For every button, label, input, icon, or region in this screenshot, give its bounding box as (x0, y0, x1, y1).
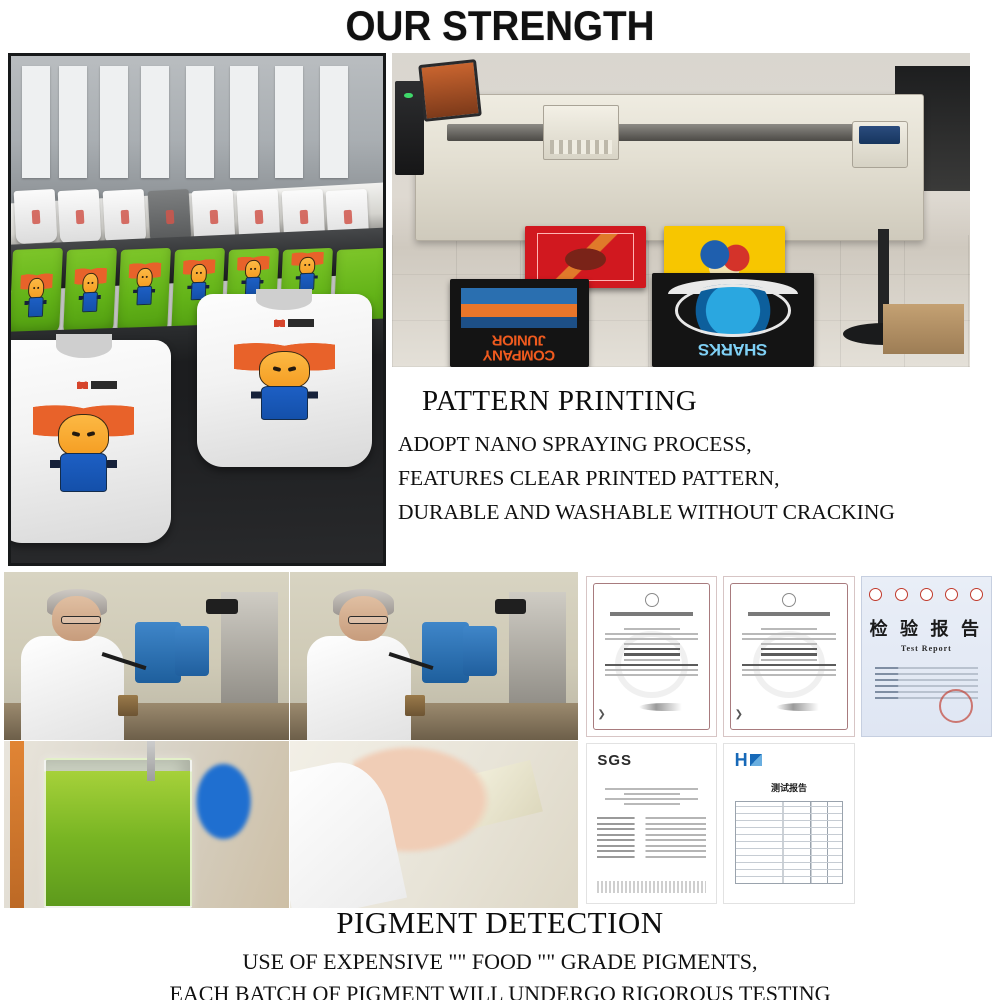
wall-paper (59, 66, 87, 178)
wall-paper (100, 66, 128, 178)
wall-paper (22, 66, 50, 178)
white-tshirt-foreground (197, 294, 372, 466)
red-official-stamp-icon (939, 689, 973, 723)
green-pigment-liquid (46, 771, 190, 906)
bull-mascot-print (78, 265, 102, 314)
brand-wordmark (91, 381, 117, 389)
certificate-corner-mark: ❯ (735, 709, 743, 720)
field-row (875, 679, 978, 681)
bull-eye-left (195, 271, 198, 273)
certificate-text-line (605, 674, 698, 676)
h-lab-logo: H (735, 752, 762, 768)
printer-gantry-rail (447, 124, 873, 141)
white-shirt-platen (103, 189, 147, 244)
photo-green-pigment-beaker (4, 741, 289, 908)
certificate-title-bar (748, 612, 831, 616)
table-row (597, 856, 706, 858)
blue-stirrer-motor (135, 622, 181, 682)
bull-mascot-print (132, 260, 156, 308)
bull-overalls (27, 297, 43, 317)
green-shirt-platen (9, 247, 63, 336)
certificate-text-line (605, 638, 698, 640)
sample-bottle (405, 695, 425, 717)
wall-paper (230, 66, 258, 178)
field-row (875, 667, 978, 669)
bull-eye-right (200, 271, 203, 273)
table-row (597, 823, 706, 825)
pattern-printing-line-1: ADOPT NANO SPRAYING PROCESS, (392, 432, 992, 457)
bull-head (82, 272, 99, 294)
bull-eye-right (37, 286, 40, 288)
eyeglasses-icon (348, 616, 388, 624)
table-row (597, 834, 706, 836)
certificate-iso-en: ❯ (723, 576, 854, 737)
shark-badge-artwork (675, 284, 792, 337)
bull-eye-right (146, 275, 149, 277)
certificate-text-line (742, 633, 835, 635)
printer-chassis (415, 94, 924, 242)
pattern-printing-heading: PATTERN PRINTING (392, 385, 992, 418)
certificate-text-line (761, 643, 817, 645)
test-report-title-en: Test Report (862, 644, 991, 653)
bull-eye-right (308, 263, 310, 265)
lab-clamp (206, 599, 237, 614)
bull-eye-right (288, 366, 296, 371)
blue-stirrer-motor (422, 622, 468, 682)
pigment-detection-heading: PIGMENT DETECTION (0, 905, 1000, 941)
bull-mascot-print (49, 401, 119, 498)
report-text-line (605, 788, 698, 790)
bull-eye-right (91, 281, 94, 283)
green-shirt-platen (117, 247, 171, 336)
field-row (875, 685, 978, 687)
photo-fabric-sample-inspection (290, 741, 578, 908)
bull-head (136, 267, 153, 288)
report-text-line (624, 793, 680, 795)
lab-clamp (495, 599, 527, 614)
field-row (875, 673, 978, 675)
report-text-line (624, 803, 680, 805)
control-panel-screen[interactable] (859, 126, 900, 144)
photo-lab-technician-1 (4, 572, 289, 740)
printed-garment-sharks: SHARKS (652, 273, 814, 367)
certificate-text-line (624, 643, 680, 645)
sgs-logo: SGS (597, 752, 632, 769)
certificate-standard-line (624, 653, 680, 656)
cardboard-box (883, 304, 964, 354)
bull-eye-right (87, 431, 95, 437)
certificate-scope-line (742, 664, 835, 667)
bull-eye-left (87, 281, 90, 283)
brand-wordmark (288, 319, 314, 327)
pigment-detection-line-1: USE OF EXPENSIVE "" FOOD "" GRADE PIGMEN… (0, 949, 1000, 975)
certificate-text-line (605, 669, 698, 671)
print-text-line1: JUNIOR (492, 331, 546, 346)
status-led-icon (404, 93, 413, 99)
bull-overalls (82, 292, 98, 312)
wall-paper (141, 66, 169, 178)
print-text-sharks: SHARKS (660, 339, 806, 359)
section-pattern-printing: PATTERN PRINTING ADOPT NANO SPRAYING PRO… (392, 385, 992, 534)
certificates-grid: ❯ ❯ (582, 572, 996, 908)
cmc-logo-icon (945, 588, 958, 601)
print-artwork (461, 288, 578, 328)
certificate-iso-cn: ❯ (586, 576, 717, 737)
bull-head-icon (77, 380, 88, 389)
certificate-standard-line (761, 653, 817, 656)
table-row (597, 845, 706, 847)
h-logo-letter: H (735, 752, 748, 768)
certificate-title-bar (610, 612, 693, 616)
accreditation-logos (869, 588, 983, 601)
blue-stirrer-motor (175, 626, 209, 676)
photo-screen-printing-conveyor (8, 53, 386, 566)
bull-mascot-print (24, 271, 48, 320)
signal-tower (395, 81, 424, 175)
bull-head (28, 277, 45, 299)
bull-eye-left (249, 267, 252, 269)
signature-mark (776, 703, 833, 711)
bull-overalls (298, 272, 314, 289)
operator-monitor (418, 60, 481, 122)
certificate-text-line (624, 628, 680, 630)
table-row (597, 828, 706, 830)
bull-eye-right (254, 267, 257, 269)
table-row (597, 817, 706, 819)
eyeglasses-icon (61, 616, 101, 624)
certificate-text-line (742, 669, 835, 671)
sgs-results-table (597, 814, 706, 862)
printed-garment-junior-company: COMPANY JUNIOR (450, 279, 589, 367)
certificate-sgs-test-report: SGS (586, 743, 717, 904)
pattern-printing-line-2: FEATURES CLEAR PRINTED PATTERN, (392, 466, 992, 491)
green-shirt-platen (63, 247, 117, 336)
cal-logo-icon (970, 588, 983, 601)
bull-head (190, 263, 207, 283)
section-pigment-detection: PIGMENT DETECTION USE OF EXPENSIVE "" FO… (0, 905, 1000, 1000)
white-shirt-platen (58, 189, 102, 244)
certificate-text-line (742, 674, 835, 676)
document-footer-barcode (597, 881, 706, 893)
glass-beaker (44, 758, 192, 908)
certificate-h-test-report: H 测试报告 (723, 743, 854, 904)
table-row (597, 850, 706, 852)
print-artwork (537, 233, 634, 281)
wall-paper (186, 66, 214, 178)
white-tshirt-foreground (8, 340, 171, 543)
test-report-title-cn: 检 验 报 告 (862, 615, 991, 641)
cnas-logo-icon (920, 588, 933, 601)
bull-head (58, 414, 108, 457)
page-title: OUR STRENGTH (40, 2, 960, 50)
certificate-text-line (624, 659, 680, 661)
bull-head-icon (274, 318, 285, 327)
bull-eye-left (272, 366, 280, 371)
bull-mascot-print (249, 339, 319, 425)
h-report-title: 测试报告 (724, 781, 853, 794)
white-shirt-platen (13, 189, 57, 244)
certificate-corner-mark: ❯ (597, 709, 605, 720)
ccc-logo-icon (895, 588, 908, 601)
seal-icon (645, 593, 659, 607)
certificate-inspection-test-report: 检 验 报 告 Test Report (861, 576, 992, 737)
bull-eye-left (72, 431, 80, 437)
certificate-text-line (742, 638, 835, 640)
pigment-detection-line-2: EACH BATCH OF PIGMENT WILL UNDERGO RIGOR… (0, 981, 1000, 1000)
print-text-line2: COMPANY (483, 347, 555, 362)
photo-lab-technician-2 (290, 572, 578, 740)
photo-dtg-printer: COMPANY JUNIOR SHARKS (392, 53, 970, 367)
brand-logo-small (77, 380, 117, 389)
certificate-text-line (761, 628, 817, 630)
bull-eye-left (303, 263, 306, 265)
sample-bottle (118, 695, 138, 717)
background-orange-strip (10, 741, 24, 908)
cqc-logo-icon (869, 588, 882, 601)
wall-paper (275, 66, 303, 178)
white-lab-coat (307, 636, 411, 740)
certificate-scope-line (605, 664, 698, 667)
bull-overalls (60, 453, 108, 492)
certificate-text-line (605, 633, 698, 635)
bull-overalls (136, 286, 152, 305)
brand-logo-small (274, 318, 314, 327)
bull-mascot-print (295, 250, 319, 292)
h-logo-square-icon (750, 754, 762, 766)
photo-certificates-panel: ❯ ❯ (582, 572, 996, 908)
white-lab-coat (21, 636, 124, 740)
bull-overalls (261, 386, 309, 420)
pattern-printing-line-3: DURABLE AND WASHABLE WITHOUT CRACKING (392, 500, 992, 525)
bull-eye-left (33, 286, 36, 288)
bull-eye-left (141, 275, 144, 277)
table-row (597, 839, 706, 841)
control-panel[interactable] (852, 121, 908, 168)
wall-paper (320, 66, 348, 178)
print-text-junior-company: COMPANY JUNIOR (458, 334, 580, 360)
stirring-shaft (147, 741, 156, 781)
bull-head (259, 351, 309, 389)
seal-icon (782, 593, 796, 607)
carriage-vent (550, 140, 612, 154)
certificate-text-line (761, 659, 817, 661)
report-text-line (605, 798, 698, 800)
signature-mark (639, 703, 696, 711)
certificate-standard-line (761, 648, 817, 651)
infographic-page: OUR STRENGTH (0, 0, 1000, 1000)
h-report-results-table (735, 801, 844, 884)
blue-stirrer-motor (463, 626, 498, 676)
printhead-carriage (543, 105, 619, 160)
background-blue-equipment (192, 758, 255, 845)
certificate-standard-line (624, 648, 680, 651)
